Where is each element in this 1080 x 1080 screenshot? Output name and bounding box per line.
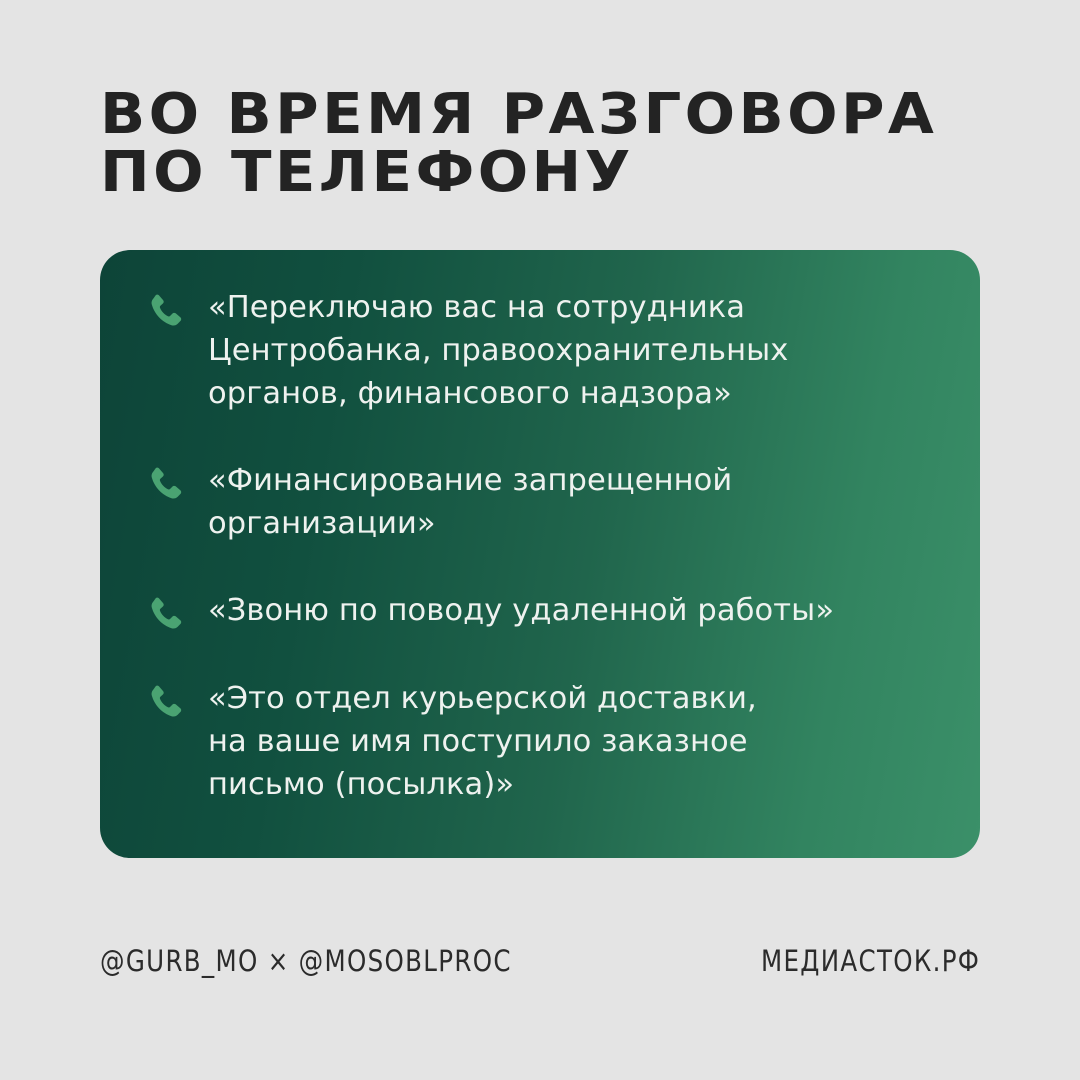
list-item-label: «Это отдел курьерской доставки, на ваше … <box>208 677 757 806</box>
poster-canvas: ВО ВРЕМЯ РАЗГОВОРА ПО ТЕЛЕФОНУ «Переключ… <box>0 0 1080 1080</box>
list-item: «Финансирование запрещенной организации» <box>144 459 940 545</box>
footer: @GURB_MO × @MOSOBLPROC МЕДИАСТОК.РФ <box>100 944 980 978</box>
page-title: ВО ВРЕМЯ РАЗГОВОРА ПО ТЕЛЕФОНУ <box>100 86 1000 202</box>
page-title-line-2: ПО ТЕЛЕФОНУ <box>100 144 1054 202</box>
list-item: «Звоню по поводу удаленной работы» <box>144 589 940 633</box>
phone-icon <box>144 290 184 330</box>
phone-icon <box>144 681 184 721</box>
footer-source: МЕДИАСТОК.РФ <box>761 944 980 978</box>
list-item-label: «Переключаю вас на сотрудника Центробанк… <box>208 286 788 415</box>
list-item: «Переключаю вас на сотрудника Центробанк… <box>144 286 940 415</box>
list-item-label: «Финансирование запрещенной организации» <box>208 459 732 545</box>
footer-credits: @GURB_MO × @MOSOBLPROC <box>100 944 512 978</box>
phone-icon <box>144 463 184 503</box>
list-item-label: «Звоню по поводу удаленной работы» <box>208 589 834 632</box>
scam-phrases-list: «Переключаю вас на сотрудника Центробанк… <box>144 286 940 806</box>
page-title-line-1: ВО ВРЕМЯ РАЗГОВОРА <box>100 86 1054 144</box>
scam-phrases-card: «Переключаю вас на сотрудника Центробанк… <box>100 250 980 858</box>
phone-icon <box>144 593 184 633</box>
list-item: «Это отдел курьерской доставки, на ваше … <box>144 677 940 806</box>
